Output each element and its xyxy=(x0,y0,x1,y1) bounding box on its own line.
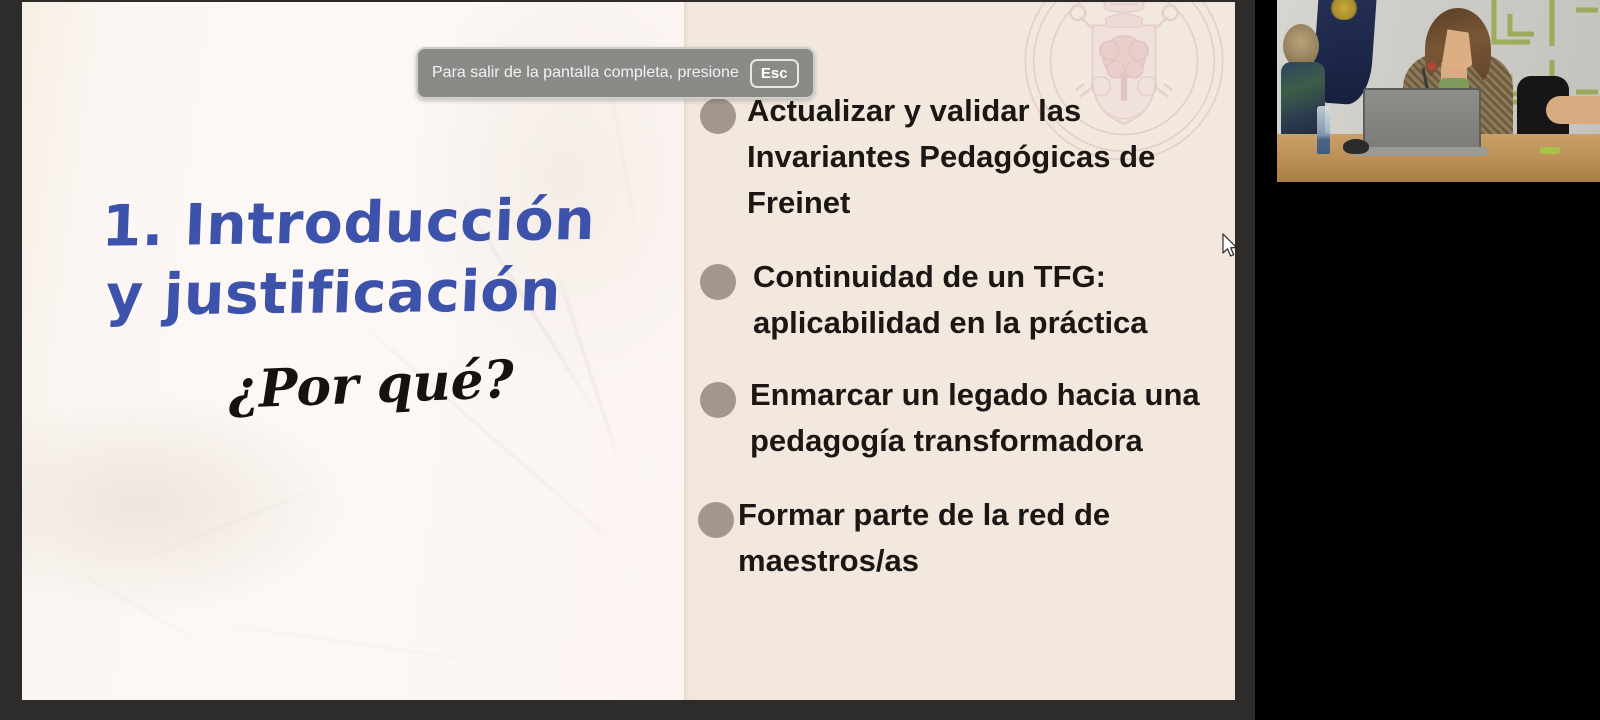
bullet-dot-icon xyxy=(698,502,734,538)
marble-vein xyxy=(71,567,193,639)
slide-title-line-2: y justificación xyxy=(104,255,643,331)
computer-mouse xyxy=(1343,139,1369,154)
slide-bullet-list: Actualizar y validar las Invariantes Ped… xyxy=(684,88,1235,584)
presenter-video-frame[interactable] xyxy=(1255,0,1600,182)
video-letterbox xyxy=(1255,0,1277,182)
bullet-dot-icon xyxy=(700,98,736,134)
bullet-text: Continuidad de un TFG: aplicabilidad en … xyxy=(753,254,1213,346)
slide-canvas[interactable]: 1. Introducción y justificación ¿Por qué… xyxy=(22,2,1235,700)
presentation-region: 1. Introducción y justificación ¿Por qué… xyxy=(0,0,1255,720)
bullet-dot-icon xyxy=(700,382,736,418)
green-marker xyxy=(1540,147,1560,154)
water-bottle xyxy=(1317,106,1330,154)
bullet-dot-icon xyxy=(700,264,736,300)
marble-vein xyxy=(148,488,316,557)
bullet-text: Actualizar y validar las Invariantes Ped… xyxy=(747,88,1167,226)
list-item: Enmarcar un legado hacia una pedagogía t… xyxy=(700,372,1235,464)
presenter-video-region[interactable] xyxy=(1255,0,1600,720)
adjacent-person-arm xyxy=(1546,96,1600,124)
laptop-base xyxy=(1355,147,1487,156)
microphone-head xyxy=(1427,62,1436,71)
laptop-screen xyxy=(1363,88,1481,150)
esc-key-badge: Esc xyxy=(750,59,799,88)
fullscreen-toast-message: Para salir de la pantalla completa, pres… xyxy=(432,64,739,82)
list-item: Continuidad de un TFG: aplicabilidad en … xyxy=(700,254,1235,346)
list-item: Actualizar y validar las Invariantes Ped… xyxy=(700,88,1235,226)
marble-vein xyxy=(223,624,481,662)
slide-subtitle: ¿Por qué? xyxy=(227,344,643,421)
fullscreen-exit-toast: Para salir de la pantalla completa, pres… xyxy=(416,47,815,99)
screen-root: 1. Introducción y justificación ¿Por qué… xyxy=(0,0,1600,720)
bullet-text: Formar parte de la red de maestros/as xyxy=(738,492,1208,584)
slide-title-block: 1. Introducción y justificación ¿Por qué… xyxy=(102,188,642,413)
bullet-text: Enmarcar un legado hacia una pedagogía t… xyxy=(750,372,1235,464)
slide-title-line-1: 1. Introducción xyxy=(100,184,643,262)
list-item: Formar parte de la red de maestros/as xyxy=(698,492,1235,584)
